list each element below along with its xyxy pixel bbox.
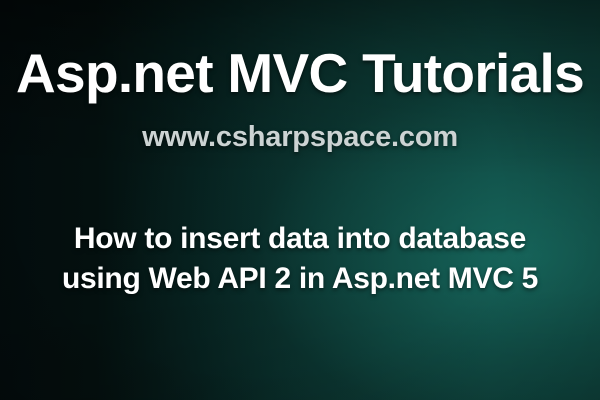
banner-description: How to insert data into database using W… [0, 219, 600, 299]
banner-title: Asp.net MVC Tutorials [0, 42, 600, 104]
banner-content: Asp.net MVC Tutorials www.csharpspace.co… [0, 0, 600, 400]
description-line-1: How to insert data into database [0, 219, 600, 259]
video-title-banner: Asp.net MVC Tutorials www.csharpspace.co… [0, 0, 600, 400]
website-url: www.csharpspace.com [0, 119, 600, 155]
description-line-2: using Web API 2 in Asp.net MVC 5 [0, 259, 600, 299]
